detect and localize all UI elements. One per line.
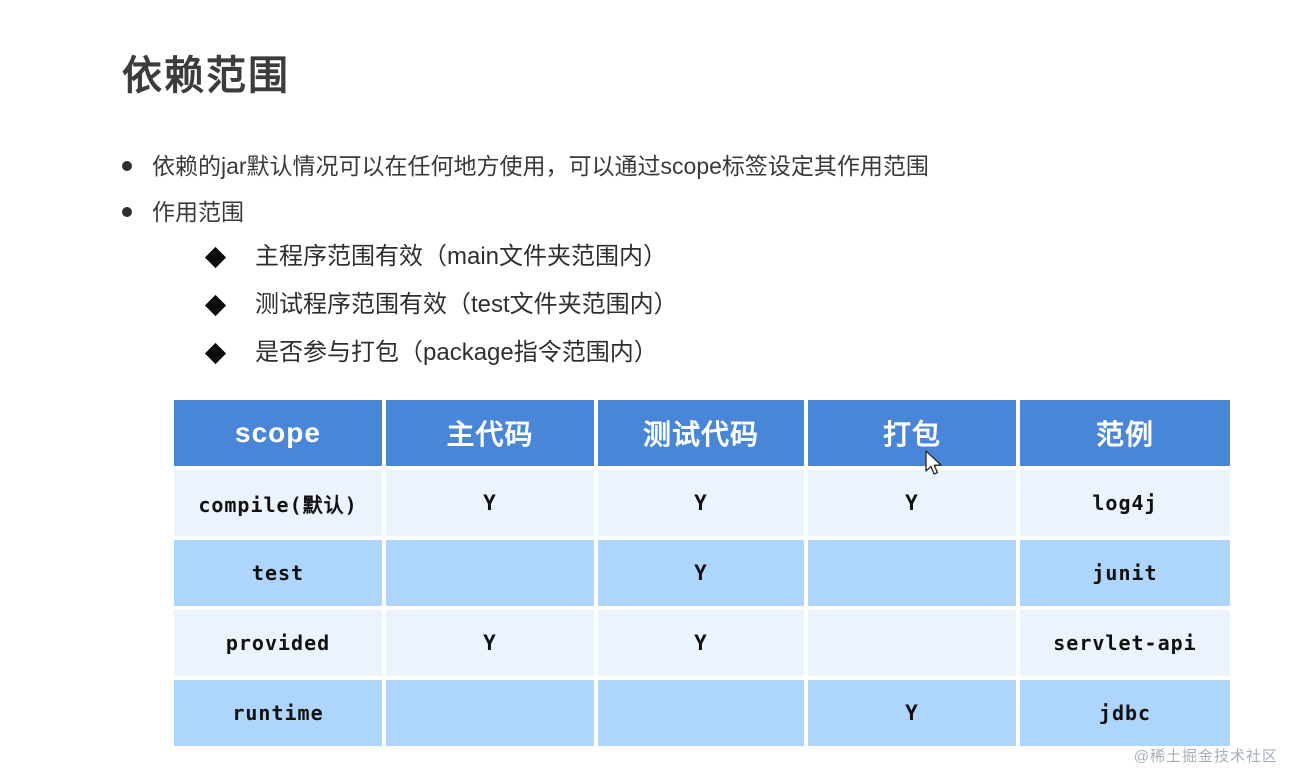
table-row: runtime Y jdbc	[174, 680, 1230, 746]
sub-bullet-text: 测试程序范围有效（test文件夹范围内）	[255, 288, 678, 322]
list-item: 主程序范围有效（main文件夹范围内）	[208, 240, 1108, 274]
cell-scope: test	[174, 540, 382, 606]
column-header-example: 范例	[1020, 400, 1230, 466]
list-item: 作用范围	[122, 196, 1122, 228]
column-header-scope: scope	[174, 400, 382, 466]
bullet-text: 作用范围	[152, 196, 244, 228]
cell-test-code: Y	[598, 540, 804, 606]
table-row: test Y junit	[174, 540, 1230, 606]
column-header-package: 打包	[808, 400, 1016, 466]
cell-example: log4j	[1020, 470, 1230, 536]
table-row: provided Y Y servlet-api	[174, 610, 1230, 676]
table-row: compile(默认) Y Y Y log4j	[174, 470, 1230, 536]
cell-test-code: Y	[598, 610, 804, 676]
sub-bullet-list: 主程序范围有效（main文件夹范围内） 测试程序范围有效（test文件夹范围内）…	[208, 240, 1108, 384]
cell-scope: runtime	[174, 680, 382, 746]
scope-table: scope 主代码 测试代码 打包 范例 compile(默认) Y Y Y l…	[170, 396, 1234, 750]
cell-scope: provided	[174, 610, 382, 676]
cell-main-code: Y	[386, 470, 594, 536]
bullet-text: 依赖的jar默认情况可以在任何地方使用，可以通过scope标签设定其作用范围	[152, 150, 929, 182]
cell-package	[808, 540, 1016, 606]
cell-main-code	[386, 680, 594, 746]
diamond-bullet-icon	[205, 295, 226, 316]
list-item: 测试程序范围有效（test文件夹范围内）	[208, 288, 1108, 322]
page-title: 依赖范围	[122, 52, 290, 100]
cell-test-code	[598, 680, 804, 746]
list-item: 依赖的jar默认情况可以在任何地方使用，可以通过scope标签设定其作用范围	[122, 150, 1122, 182]
bullet-list: 依赖的jar默认情况可以在任何地方使用，可以通过scope标签设定其作用范围 作…	[122, 150, 1122, 242]
cell-test-code: Y	[598, 470, 804, 536]
cell-main-code: Y	[386, 610, 594, 676]
list-item: 是否参与打包（package指令范围内）	[208, 336, 1108, 370]
column-header-main-code: 主代码	[386, 400, 594, 466]
disc-bullet-icon	[122, 207, 132, 217]
cell-package	[808, 610, 1016, 676]
sub-bullet-text: 是否参与打包（package指令范围内）	[255, 336, 658, 370]
watermark: @稀土掘金技术社区	[1134, 745, 1278, 766]
cell-example: jdbc	[1020, 680, 1230, 746]
cell-main-code	[386, 540, 594, 606]
cell-package: Y	[808, 680, 1016, 746]
diamond-bullet-icon	[205, 343, 226, 364]
cell-example: servlet-api	[1020, 610, 1230, 676]
cell-package: Y	[808, 470, 1016, 536]
disc-bullet-icon	[122, 161, 132, 171]
table-header-row: scope 主代码 测试代码 打包 范例	[174, 400, 1230, 466]
cell-example: junit	[1020, 540, 1230, 606]
sub-bullet-text: 主程序范围有效（main文件夹范围内）	[255, 240, 667, 274]
column-header-test-code: 测试代码	[598, 400, 804, 466]
cell-scope: compile(默认)	[174, 470, 382, 536]
diamond-bullet-icon	[205, 247, 226, 268]
